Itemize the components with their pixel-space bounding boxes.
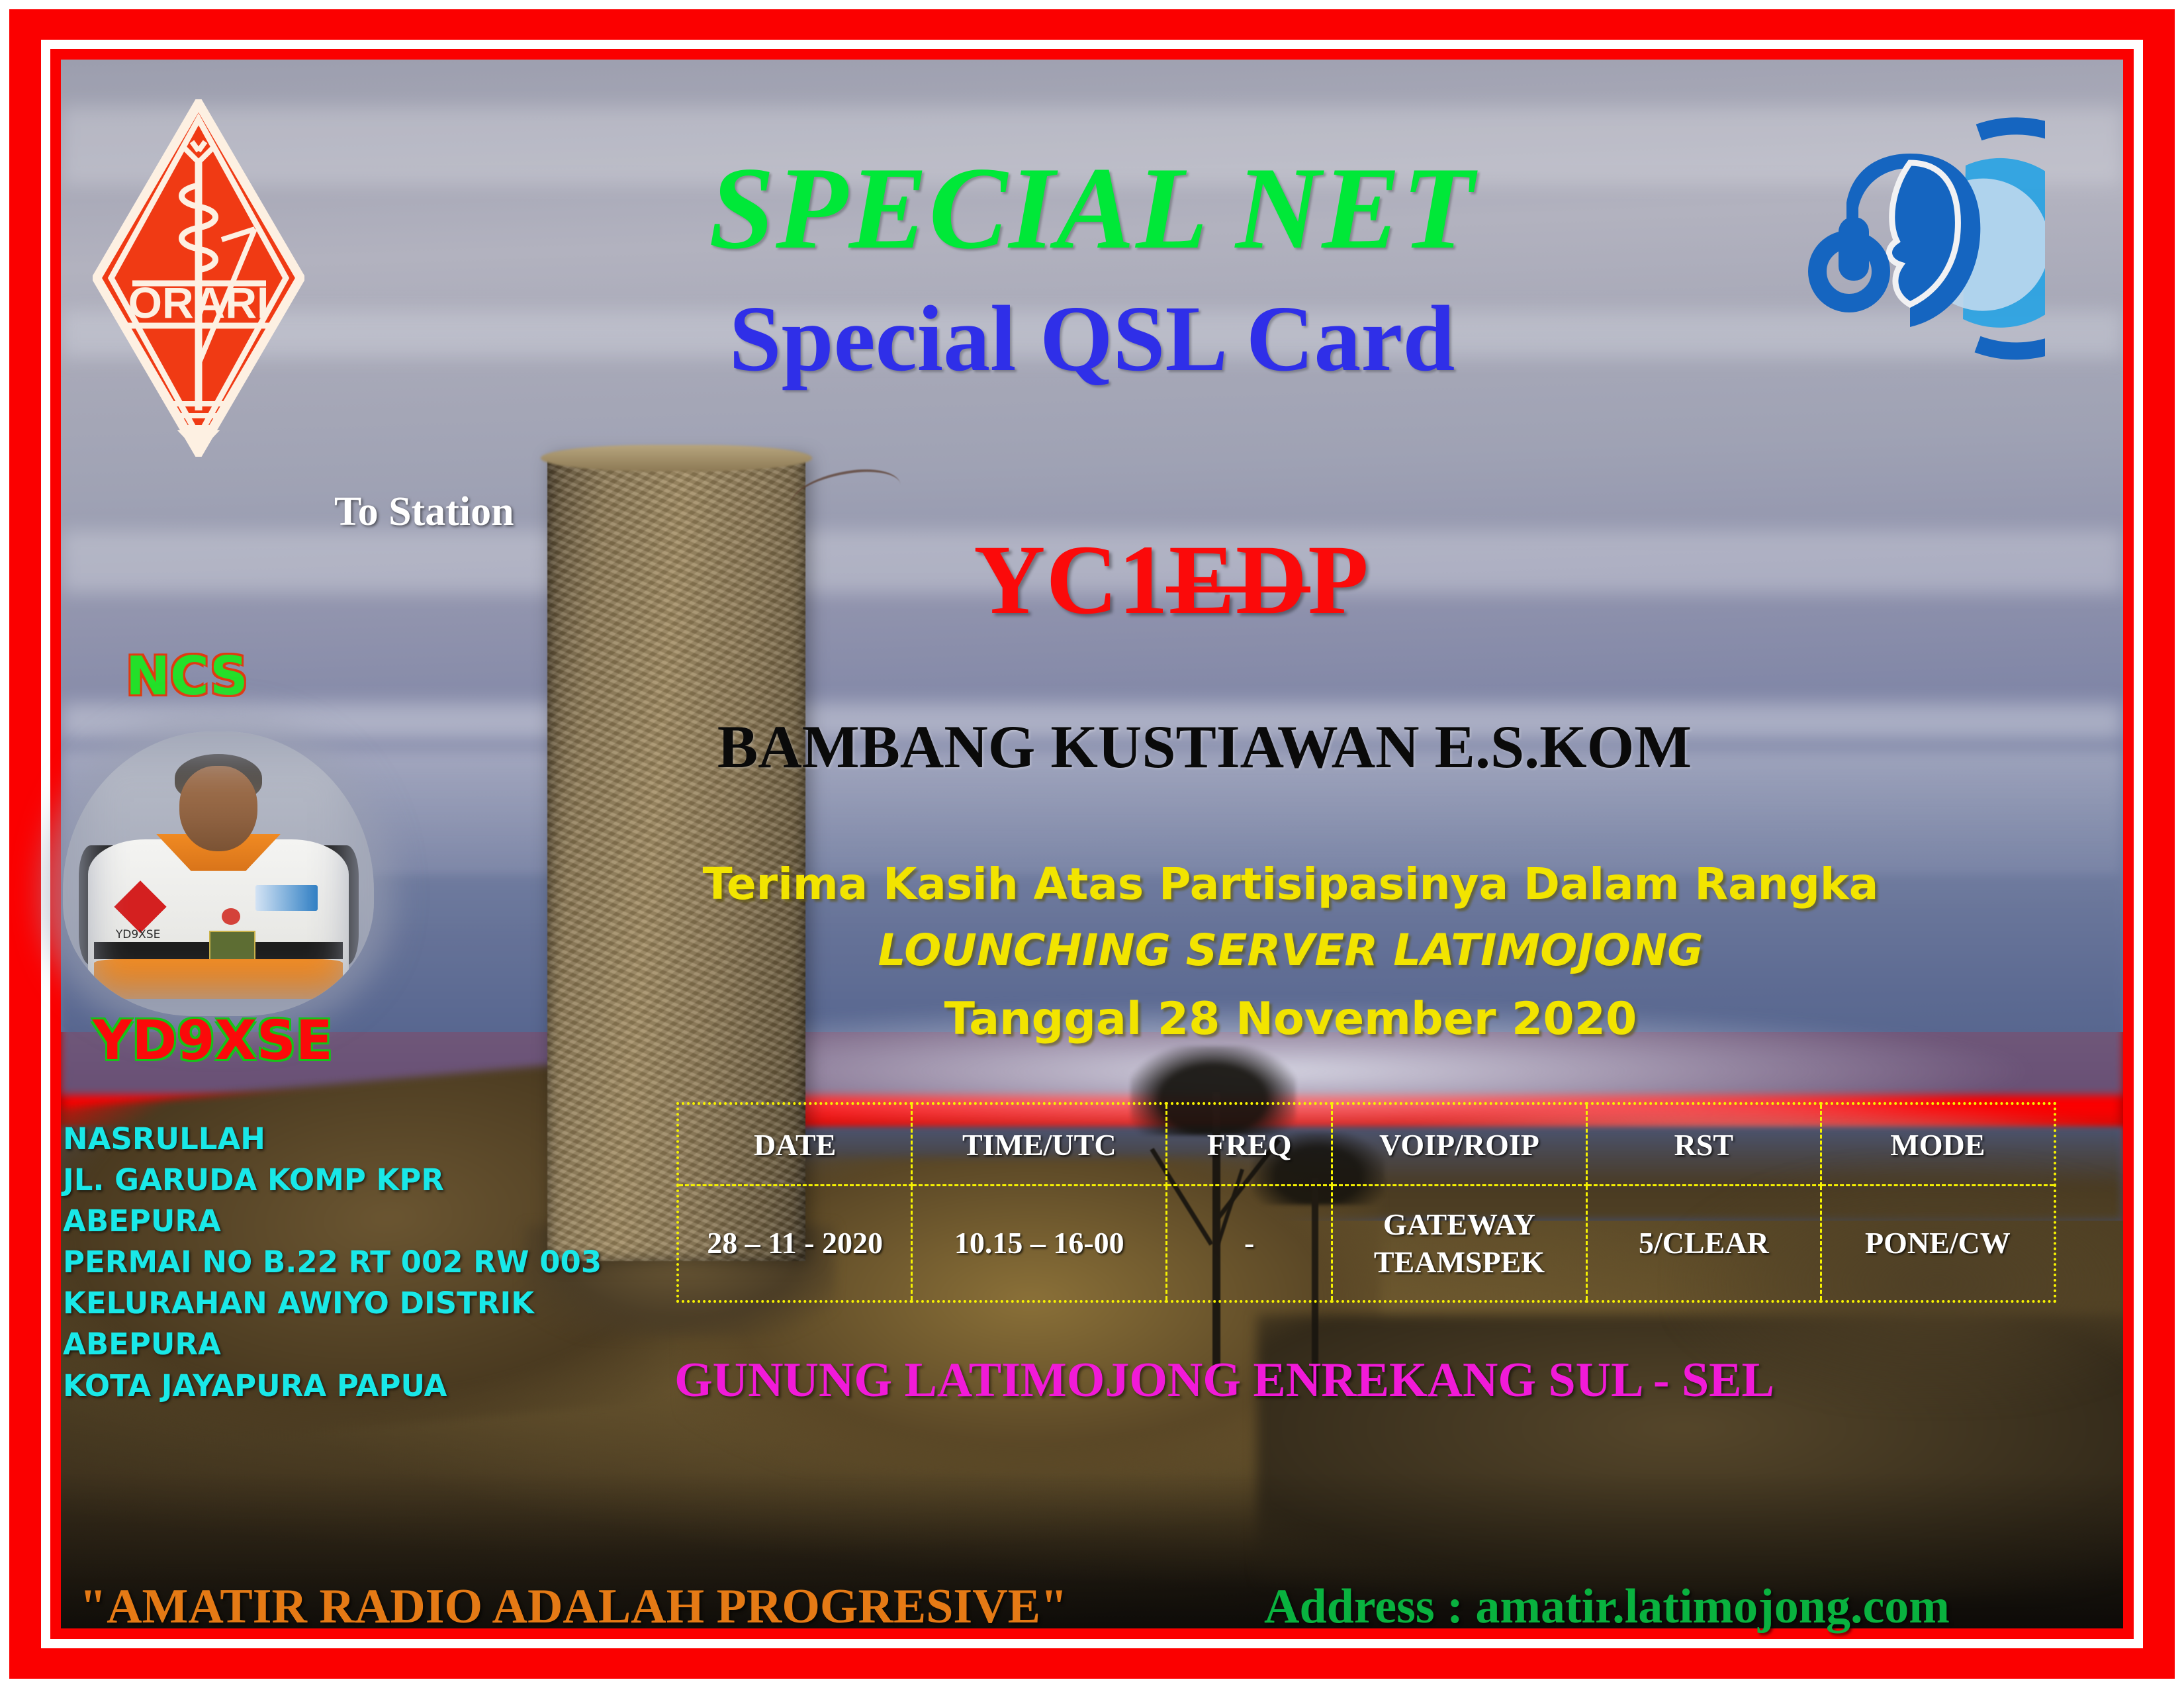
cell-rst: 5/CLEAR (1586, 1186, 1821, 1302)
callsign-suffix: P (1308, 525, 1369, 635)
table-header-row: DATE TIME/UTC FREQ VOIP/ROIP RST MODE (678, 1103, 2055, 1186)
column-header-rst: RST (1586, 1103, 1821, 1186)
orari-wordmark: ORARI (128, 278, 269, 327)
cell-voip: GATEWAY TEAMSPEK (1332, 1186, 1586, 1302)
thanks-line: Terima Kasih Atas Partisipasinya Dalam R… (662, 859, 1919, 910)
ncs-operator-photo: YD9XSE (63, 731, 374, 1016)
cell-voip-line1: GATEWAY (1334, 1205, 1585, 1244)
headphone-profile-icon (1780, 106, 2045, 371)
table-row: 28 – 11 - 2020 10.15 – 16-00 - GATEWAY T… (678, 1186, 2055, 1302)
address-line: KOTA JAYAPURA PAPUA (63, 1366, 602, 1407)
column-header-mode: MODE (1821, 1103, 2055, 1186)
orari-diamond-icon: ORARI (93, 99, 304, 457)
headphone-operator-logo (1780, 106, 2045, 371)
photo-vignette (63, 731, 374, 1016)
column-header-time: TIME/UTC (912, 1103, 1167, 1186)
qsl-card: ORARI SPECIAL NET Special QSL Card To St… (0, 0, 2184, 1688)
stone-pillar-cap (541, 445, 812, 471)
location-line: GUNUNG LATIMOJONG ENREKANG SUL - SEL (529, 1352, 1919, 1409)
callsign-prefix: YC1 (974, 525, 1169, 635)
orari-logo: ORARI (93, 99, 304, 457)
station-callsign: YC1EDP (774, 523, 1569, 637)
slogan-text: "AMATIR RADIO ADALAH PROGRESIVE" (79, 1579, 1068, 1635)
address-line: JL. GARUDA KOMP KPR (63, 1160, 602, 1201)
web-address-text: Address : amatir.latimojong.com (1264, 1579, 1950, 1635)
cell-freq: - (1167, 1186, 1332, 1302)
operator-name: BAMBANG KUSTIAWAN E.S.KOM (576, 712, 1833, 782)
address-line: KELURAHAN AWIYO DISTRIK (63, 1283, 602, 1324)
column-header-freq: FREQ (1167, 1103, 1332, 1186)
cell-date: 28 – 11 - 2020 (678, 1186, 912, 1302)
page-title-special-net: SPECIAL NET (450, 149, 1734, 267)
column-header-voip: VOIP/ROIP (1332, 1103, 1586, 1186)
event-date-line: Tanggal 28 November 2020 (662, 993, 1919, 1045)
address-line: ABEPURA (63, 1324, 602, 1365)
address-line: ABEPURA (63, 1201, 602, 1242)
cell-mode: PONE/CW (1821, 1186, 2055, 1302)
address-line: NASRULLAH (63, 1119, 602, 1160)
mailing-address-block: NASRULLAH JL. GARUDA KOMP KPR ABEPURA PE… (63, 1119, 602, 1407)
ncs-role-label: NCS (126, 645, 248, 707)
ncs-callsign-label: YD9XSE (93, 1009, 333, 1072)
cell-voip-line2: TEAMSPEK (1334, 1243, 1585, 1282)
to-station-label: To Station (334, 489, 514, 536)
qso-log-table: DATE TIME/UTC FREQ VOIP/ROIP RST MODE 28… (676, 1102, 2056, 1303)
column-header-date: DATE (678, 1103, 912, 1186)
cell-time: 10.15 – 16-00 (912, 1186, 1167, 1302)
callsign-struck-part: ED (1169, 525, 1308, 635)
page-subtitle-qsl-card: Special QSL Card (450, 291, 1734, 385)
address-line: PERMAI NO B.22 RT 002 RW 003 (63, 1242, 602, 1283)
event-line: LOUNCHING SERVER LATIMOJONG (662, 925, 1919, 976)
